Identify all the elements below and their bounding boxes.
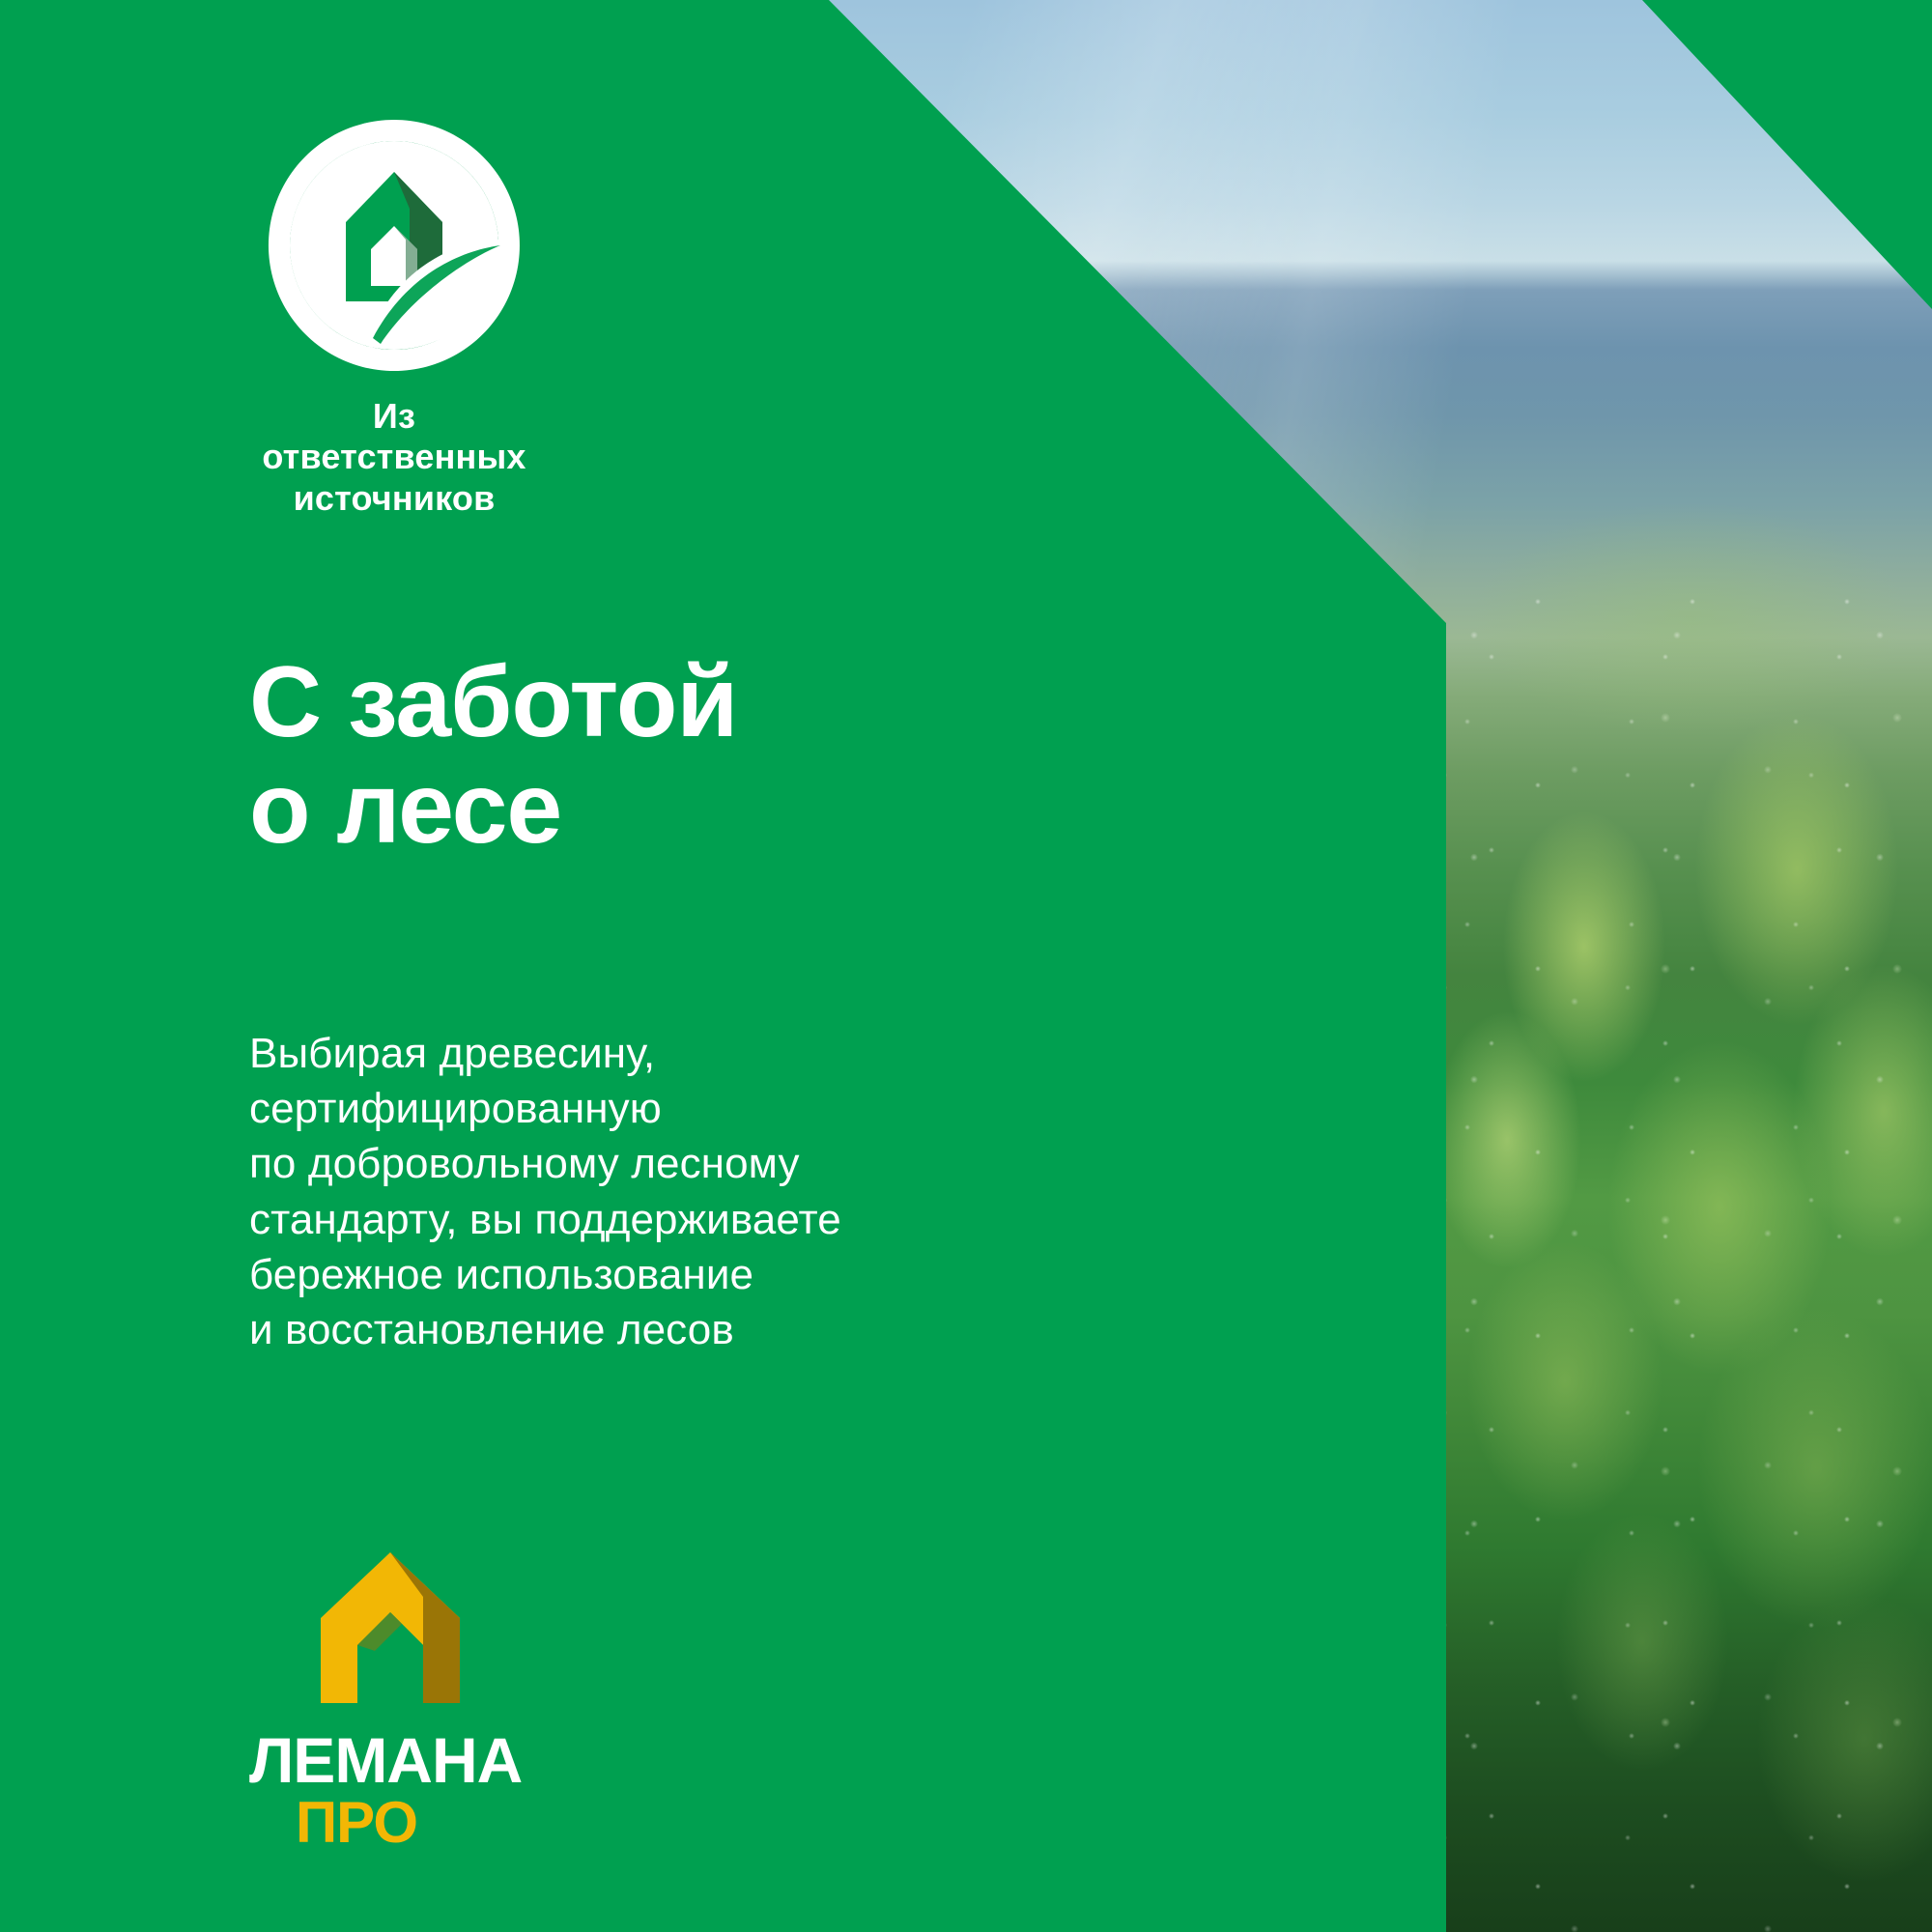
svg-text:ПРО: ПРО [296,1790,417,1848]
lemana-suffix-text: ПРО [249,1848,250,1849]
poster-canvas: Из ответственных источников С заботой о … [0,0,1932,1932]
lemana-pro-logo: ЛЕМАНА ПРО ЛЕМАНА ПРО [249,1550,597,1848]
poster-content: Из ответственных источников С заботой о … [0,0,1446,1932]
house-leaf-circle-icon [265,116,524,375]
lemana-house-icon [315,1550,465,1705]
lemana-name-text: ЛЕМАНА [249,1848,250,1849]
body-paragraph: Выбирая древесину, сертифицированную по … [249,1026,1215,1357]
page-title: С заботой о лесе [249,649,1157,862]
responsible-sourcing-caption: Из ответственных источников [249,396,539,519]
svg-text:ЛЕМАНА: ЛЕМАНА [249,1724,522,1796]
responsible-sourcing-badge: Из ответственных источников [249,116,539,519]
lemana-pro-wordmark: ЛЕМАНА ПРО [249,1722,578,1848]
